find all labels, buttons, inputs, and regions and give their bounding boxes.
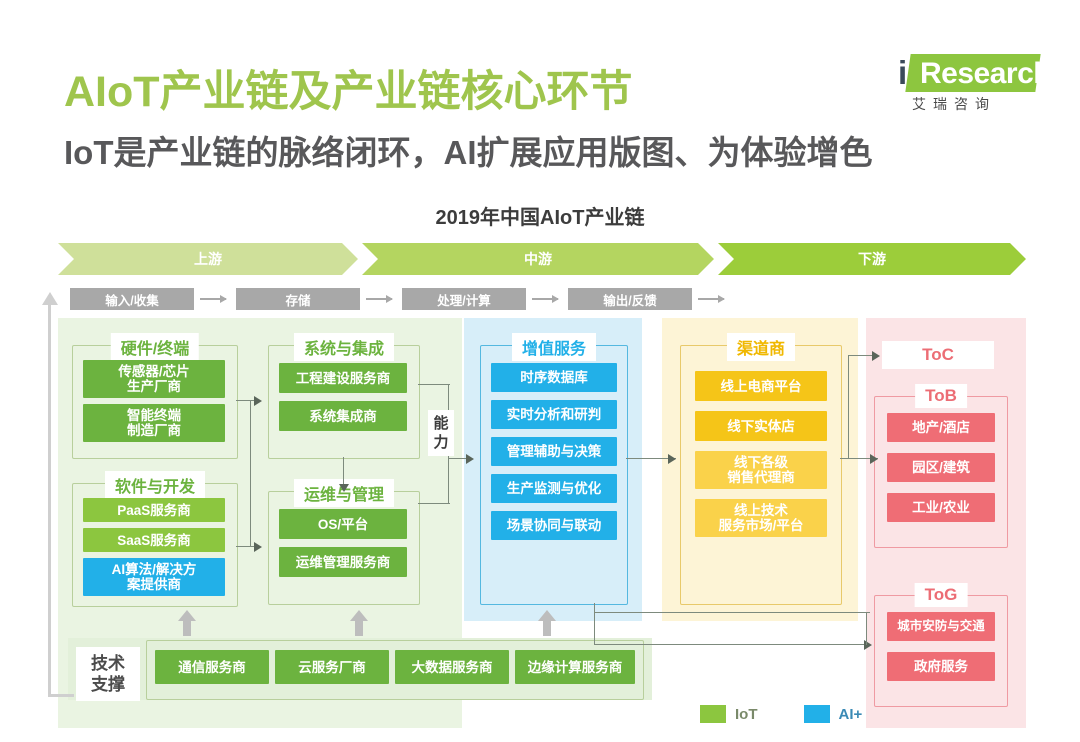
conn-sw-arrowhead <box>254 542 262 552</box>
flow-step-processing: 处理/计算 <box>402 288 526 310</box>
chip-offline-store[interactable]: 线下实体店 <box>695 411 827 441</box>
value-chain-diagram: 硬件/终端 传感器/芯片 生产厂商 智能终端 制造厂商 软件与开发 PaaS服务… <box>58 318 1026 728</box>
stage-chevron-midstream: 中游 <box>362 243 714 275</box>
value-chain-stage-band: 上游 中游 下游 <box>58 243 1026 275</box>
legend-label-ai: AI+ <box>839 706 863 723</box>
group-title-toc: ToC <box>922 345 954 365</box>
chip-bigdata-service[interactable]: 大数据服务商 <box>395 650 509 684</box>
legend-item-iot: IoT <box>700 705 758 723</box>
group-value-added-services: 增值服务 时序数据库 实时分析和研判 管理辅助与决策 生产监测与优化 场景协同与… <box>480 345 628 605</box>
group-title-channel: 渠道商 <box>727 333 795 361</box>
conn-channel-lower-line <box>594 612 870 613</box>
tech-up-arrow-3 <box>538 610 556 636</box>
feedback-loop-arrowhead <box>42 292 58 305</box>
chip-engineering-service[interactable]: 工程建设服务商 <box>279 363 407 393</box>
group-title-value-added: 增值服务 <box>512 333 596 361</box>
legend-swatch-iot <box>700 705 726 723</box>
tech-label-line-2: 支撑 <box>91 675 125 694</box>
chip-industry-agriculture[interactable]: 工业/农业 <box>887 493 995 522</box>
tech-label-line-1: 技术 <box>91 654 125 673</box>
legend-label-iot: IoT <box>735 706 758 723</box>
tech-support-label: 技术 支撑 <box>76 647 140 701</box>
legend-item-ai: AI+ <box>804 705 863 723</box>
logo-wordmark: Research <box>920 57 1051 91</box>
feedback-loop-line <box>48 304 51 694</box>
conn-hw-arrowhead <box>254 396 262 406</box>
group-title-sysint: 系统与集成 <box>294 333 394 361</box>
page-header: AIoT产业链及产业链核心环节 IoT是产业链的脉络闭环，AI扩展应用版图、为体… <box>0 0 1080 190</box>
chip-production-monitoring[interactable]: 生产监测与优化 <box>491 474 617 503</box>
group-ops-management: 运维与管理 OS/平台 运维管理服务商 <box>268 491 420 605</box>
group-title-tob: ToB <box>915 384 967 408</box>
chip-os-platform[interactable]: OS/平台 <box>279 509 407 539</box>
group-tog: ToG 城市安防与交通 政府服务 <box>874 595 1008 707</box>
logo-chinese-name: 艾瑞咨询 <box>912 94 996 114</box>
chip-line-2: 销售代理商 <box>727 470 795 485</box>
chip-line-1: AI算法/解决方 <box>112 562 197 577</box>
conn-value-down <box>594 603 595 645</box>
group-title-software: 软件与开发 <box>105 471 205 499</box>
group-system-integration: 系统与集成 工程建设服务商 系统集成商 <box>268 345 420 459</box>
flow-arrow-4 <box>698 298 724 300</box>
chip-system-integrator[interactable]: 系统集成商 <box>279 401 407 431</box>
capability-arrowhead <box>466 454 474 464</box>
chip-timeseries-db[interactable]: 时序数据库 <box>491 363 617 392</box>
chip-line-2: 服务市场/平台 <box>719 518 804 533</box>
chip-saas-provider[interactable]: SaaS服务商 <box>83 528 225 552</box>
chip-scenario-coordination[interactable]: 场景协同与联动 <box>491 511 617 540</box>
chart-title: 2019年中国AIoT产业链 <box>0 201 1080 230</box>
chip-park-building[interactable]: 园区/建筑 <box>887 453 995 482</box>
conn-sysint-ops-arrowhead <box>339 484 349 492</box>
flow-step-storage: 存储 <box>236 288 360 310</box>
chip-line-1: 线上技术 <box>734 503 788 518</box>
chip-smart-terminal-maker[interactable]: 智能终端 制造厂商 <box>83 404 225 442</box>
page-subtitle: IoT是产业链的脉络闭环，AI扩展应用版图、为体验增色 <box>64 126 872 174</box>
group-title-tog: ToG <box>915 583 968 607</box>
chart-legend: IoT AI+ <box>700 702 862 726</box>
chip-line-1: 线下各级 <box>734 455 788 470</box>
chip-ai-algorithm-provider[interactable]: AI算法/解决方 案提供商 <box>83 558 225 596</box>
conn-channel-riser <box>848 355 849 459</box>
chip-line-1: 智能终端 <box>127 408 181 423</box>
chip-telecom-service[interactable]: 通信服务商 <box>155 650 269 684</box>
tech-up-arrow-1 <box>178 610 196 636</box>
conn-channel-toc-arrowhead <box>872 351 880 361</box>
group-title-hardware: 硬件/终端 <box>111 333 199 361</box>
conn-left-riser <box>250 400 251 546</box>
tech-up-arrow-2 <box>350 610 368 636</box>
legend-swatch-ai <box>804 705 830 723</box>
data-flow-strip: 输入/收集 存储 处理/计算 输出/反馈 <box>58 288 1026 310</box>
chip-line-2: 生产厂商 <box>127 379 181 394</box>
group-tech-support: 通信服务商 云服务厂商 大数据服务商 边缘计算服务商 <box>146 640 644 700</box>
conn-lower-riser <box>866 612 867 645</box>
flow-arrow-3 <box>532 298 558 300</box>
chip-government-service[interactable]: 政府服务 <box>887 652 995 681</box>
stage-chevron-upstream: 上游 <box>58 243 358 275</box>
logo-letter-i: i <box>898 56 907 90</box>
capability-char-1: 能 <box>433 415 448 432</box>
group-toc: ToC <box>882 341 994 369</box>
capability-bracket-bottom <box>418 503 450 504</box>
iresearch-logo: i Research 艾瑞咨询 <box>892 54 1042 116</box>
group-software-development: 软件与开发 PaaS服务商 SaaS服务商 AI算法/解决方 案提供商 <box>72 483 238 607</box>
chip-real-estate-hotel[interactable]: 地产/酒店 <box>887 413 995 442</box>
chip-online-tech-service-market[interactable]: 线上技术 服务市场/平台 <box>695 499 827 537</box>
capability-char-2: 力 <box>433 434 448 451</box>
group-hardware-terminal: 硬件/终端 传感器/芯片 生产厂商 智能终端 制造厂商 <box>72 345 238 459</box>
conn-channel-tob-arrowhead <box>870 454 878 464</box>
page-title: AIoT产业链及产业链核心环节 <box>64 57 633 119</box>
capability-label: 能 力 <box>428 410 454 456</box>
flow-arrow-2 <box>366 298 392 300</box>
feedback-loop-base <box>48 694 74 697</box>
chip-ops-management-service[interactable]: 运维管理服务商 <box>279 547 407 577</box>
chip-edge-computing-service[interactable]: 边缘计算服务商 <box>515 650 635 684</box>
conn-value-channel-arrowhead <box>668 454 676 464</box>
chip-line-1: 传感器/芯片 <box>118 364 189 379</box>
chip-paas-provider[interactable]: PaaS服务商 <box>83 498 225 522</box>
chip-line-2: 案提供商 <box>127 577 181 592</box>
chip-offline-sales-agent[interactable]: 线下各级 销售代理商 <box>695 451 827 489</box>
chip-realtime-analysis[interactable]: 实时分析和研判 <box>491 400 617 429</box>
chip-urban-security-transport[interactable]: 城市安防与交通 <box>887 612 995 641</box>
group-channel-vendors: 渠道商 线上电商平台 线下实体店 线下各级 销售代理商 线上技术 服务市场/平台 <box>680 345 842 605</box>
group-tob: ToB 地产/酒店 园区/建筑 工业/农业 <box>874 396 1008 548</box>
chip-line-2: 制造厂商 <box>127 423 181 438</box>
chip-management-decision[interactable]: 管理辅助与决策 <box>491 437 617 466</box>
flow-arrow-1 <box>200 298 226 300</box>
capability-bracket-top <box>418 384 450 385</box>
conn-value-to-tog <box>594 644 870 645</box>
stage-chevron-downstream: 下游 <box>718 243 1026 275</box>
flow-step-output: 输出/反馈 <box>568 288 692 310</box>
flow-step-input: 输入/收集 <box>70 288 194 310</box>
chip-cloud-service[interactable]: 云服务厂商 <box>275 650 389 684</box>
chip-sensor-chip-maker[interactable]: 传感器/芯片 生产厂商 <box>83 360 225 398</box>
chip-online-ecommerce-platform[interactable]: 线上电商平台 <box>695 371 827 401</box>
